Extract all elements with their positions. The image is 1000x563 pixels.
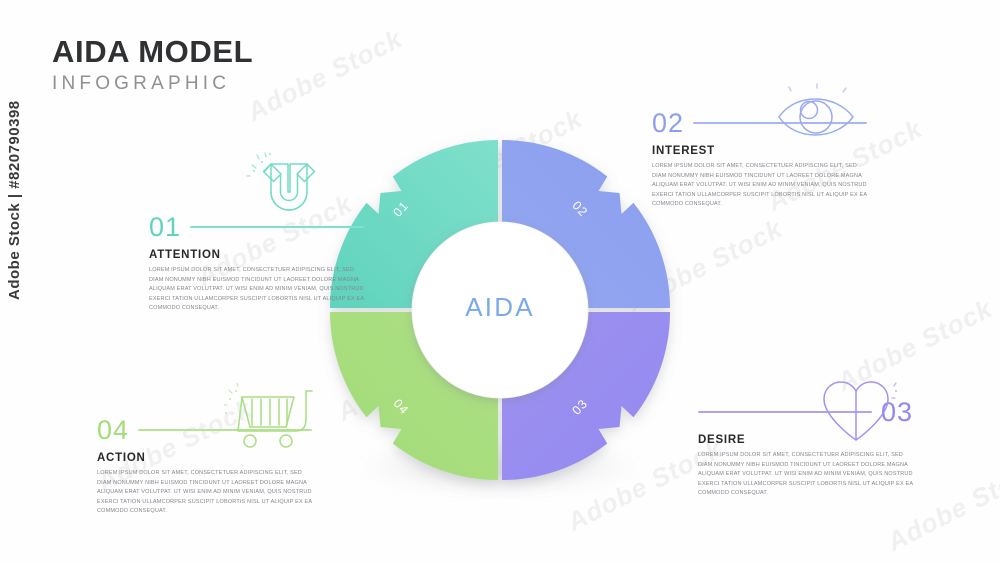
step-body-03: LOREM IPSUM DOLOR SIT AMET, CONSECTETUER…	[698, 451, 913, 499]
eye-icon	[773, 83, 861, 152]
adobe-stock-watermark: Adobe Stock | #820790398	[6, 100, 23, 300]
infographic-canvas: Adobe Stock Adobe Stock Adobe Stock Adob…	[0, 0, 1000, 563]
step-body-02: LOREM IPSUM DOLOR SIT AMET, CONSECTETUER…	[652, 162, 867, 210]
step-body-04: LOREM IPSUM DOLOR SIT AMET, CONSECTETUER…	[97, 469, 312, 517]
step-body-01: LOREM IPSUM DOLOR SIT AMET, CONSECTETUER…	[149, 266, 364, 314]
step-number-01: 01	[149, 214, 181, 241]
page-title: AIDA MODEL INFOGRAPHIC	[52, 36, 253, 95]
step-number-04: 04	[97, 417, 129, 444]
step-title-01: ATTENTION	[149, 249, 364, 261]
step-number-02: 02	[652, 110, 684, 137]
heart-icon	[816, 378, 900, 451]
magnet-icon	[246, 152, 332, 229]
title-main: AIDA MODEL	[52, 36, 253, 69]
shopping-cart-icon	[224, 383, 316, 456]
title-sub: INFOGRAPHIC	[52, 73, 253, 95]
